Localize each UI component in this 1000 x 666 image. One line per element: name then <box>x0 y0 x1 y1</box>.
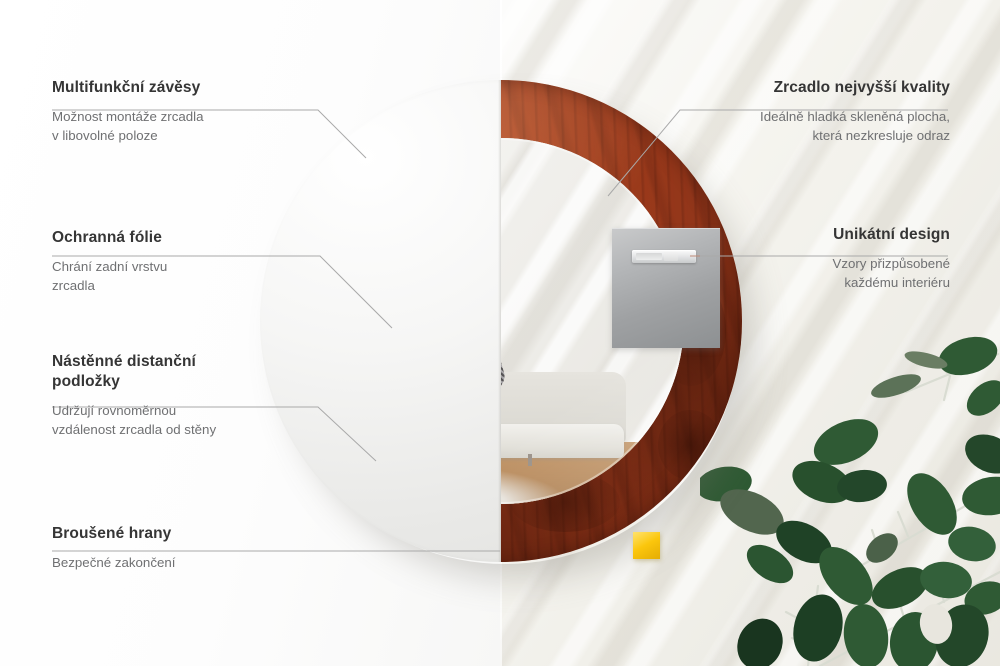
callout-title-line: podložky <box>52 373 120 390</box>
callout-description: Udržují rovnoměrnou vzdálenost zrcadla o… <box>52 401 216 439</box>
callout-description-line: Udržují rovnoměrnou <box>52 403 176 418</box>
callout-title: Zrcadlo nejvyšší kvality <box>760 78 950 98</box>
callout-description-line: která nezkresluje odraz <box>813 128 950 143</box>
callout-description-line: v libovolné poloze <box>52 128 158 143</box>
callout-title: Broušené hrany <box>52 524 175 544</box>
callout-description-line: vzdálenost zrcadla od stěny <box>52 422 216 437</box>
callout-unique-design: Unikátní design Vzory přizpůsobené každé… <box>832 225 950 292</box>
callout-highest-quality-mirror: Zrcadlo nejvyšší kvality Ideálně hladká … <box>760 78 950 145</box>
callout-description: Možnost montáže zrcadla v libovolné polo… <box>52 107 204 145</box>
callout-description-line: Bezpečné zakončení <box>52 555 175 570</box>
callout-description-line: Ideálně hladká skleněná plocha, <box>760 109 950 124</box>
callout-description-line: Možnost montáže zrcadla <box>52 109 204 124</box>
callout-title: Ochranná fólie <box>52 228 167 248</box>
callout-title: Multifunkční závěsy <box>52 78 204 98</box>
callout-description-line: Chrání zadní vrstvu <box>52 259 167 274</box>
callout-wall-spacers: Nástěnné distanční podložky Udržují rovn… <box>52 352 216 439</box>
infographic-canvas: Multifunkční závěsy Možnost montáže zrca… <box>0 0 1000 666</box>
callout-multifunctional-hangers: Multifunkční závěsy Možnost montáže zrca… <box>52 78 204 145</box>
callout-title: Nástěnné distanční podložky <box>52 352 216 392</box>
callout-description-line: zrcadla <box>52 278 95 293</box>
callout-title-line: Nástěnné distanční <box>52 353 196 370</box>
callout-description: Vzory přizpůsobené každému interiéru <box>832 254 950 292</box>
callout-title: Unikátní design <box>832 225 950 245</box>
callout-description: Chrání zadní vrstvu zrcadla <box>52 257 167 295</box>
callout-polished-edges: Broušené hrany Bezpečné zakončení <box>52 524 175 572</box>
callout-description: Ideálně hladká skleněná plocha, která ne… <box>760 107 950 145</box>
callout-description-line: Vzory přizpůsobené <box>832 256 950 271</box>
callout-description: Bezpečné zakončení <box>52 553 175 572</box>
callout-protective-foil: Ochranná fólie Chrání zadní vrstvu zrcad… <box>52 228 167 295</box>
callout-description-line: každému interiéru <box>844 275 950 290</box>
